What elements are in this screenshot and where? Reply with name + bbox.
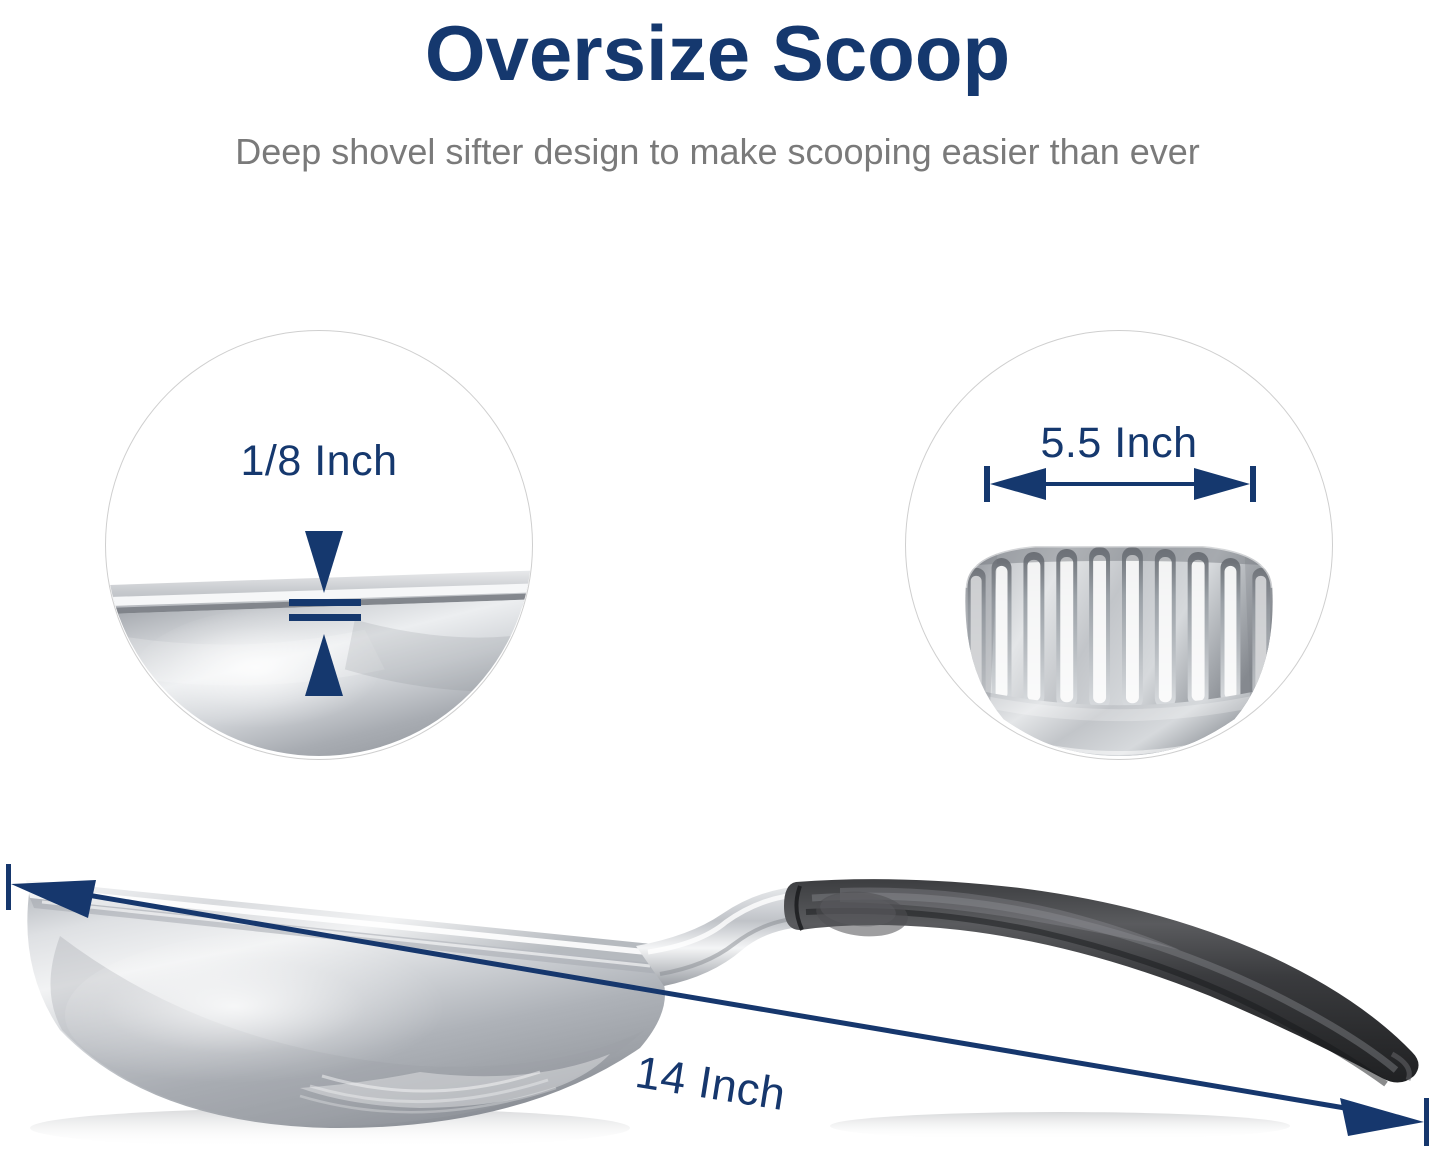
- callout-width-circle: 5.5 Inch: [905, 330, 1333, 760]
- dimension-tick-icon: [6, 864, 11, 910]
- product-photo-area: 14 Inch: [0, 840, 1435, 1170]
- page-subtitle: Deep shovel sifter design to make scoopi…: [0, 92, 1435, 170]
- thickness-label: 1/8 Inch: [106, 437, 532, 486]
- dimension-bar-lower: [289, 614, 361, 621]
- slotted-sifter-head-image: [906, 331, 1332, 759]
- arrow-right-icon: [1340, 1098, 1424, 1136]
- scoop-product-image: [0, 840, 1435, 1170]
- arrow-up-icon: [305, 634, 343, 696]
- dimension-tick-icon: [1424, 1098, 1429, 1146]
- callout-thickness-circle: 1/8 Inch: [105, 330, 533, 760]
- arrow-down-icon: [305, 531, 343, 593]
- page-title: Oversize Scoop: [0, 0, 1435, 92]
- header: Oversize Scoop Deep shovel sifter design…: [0, 0, 1435, 170]
- dimension-bar-upper: [289, 599, 361, 606]
